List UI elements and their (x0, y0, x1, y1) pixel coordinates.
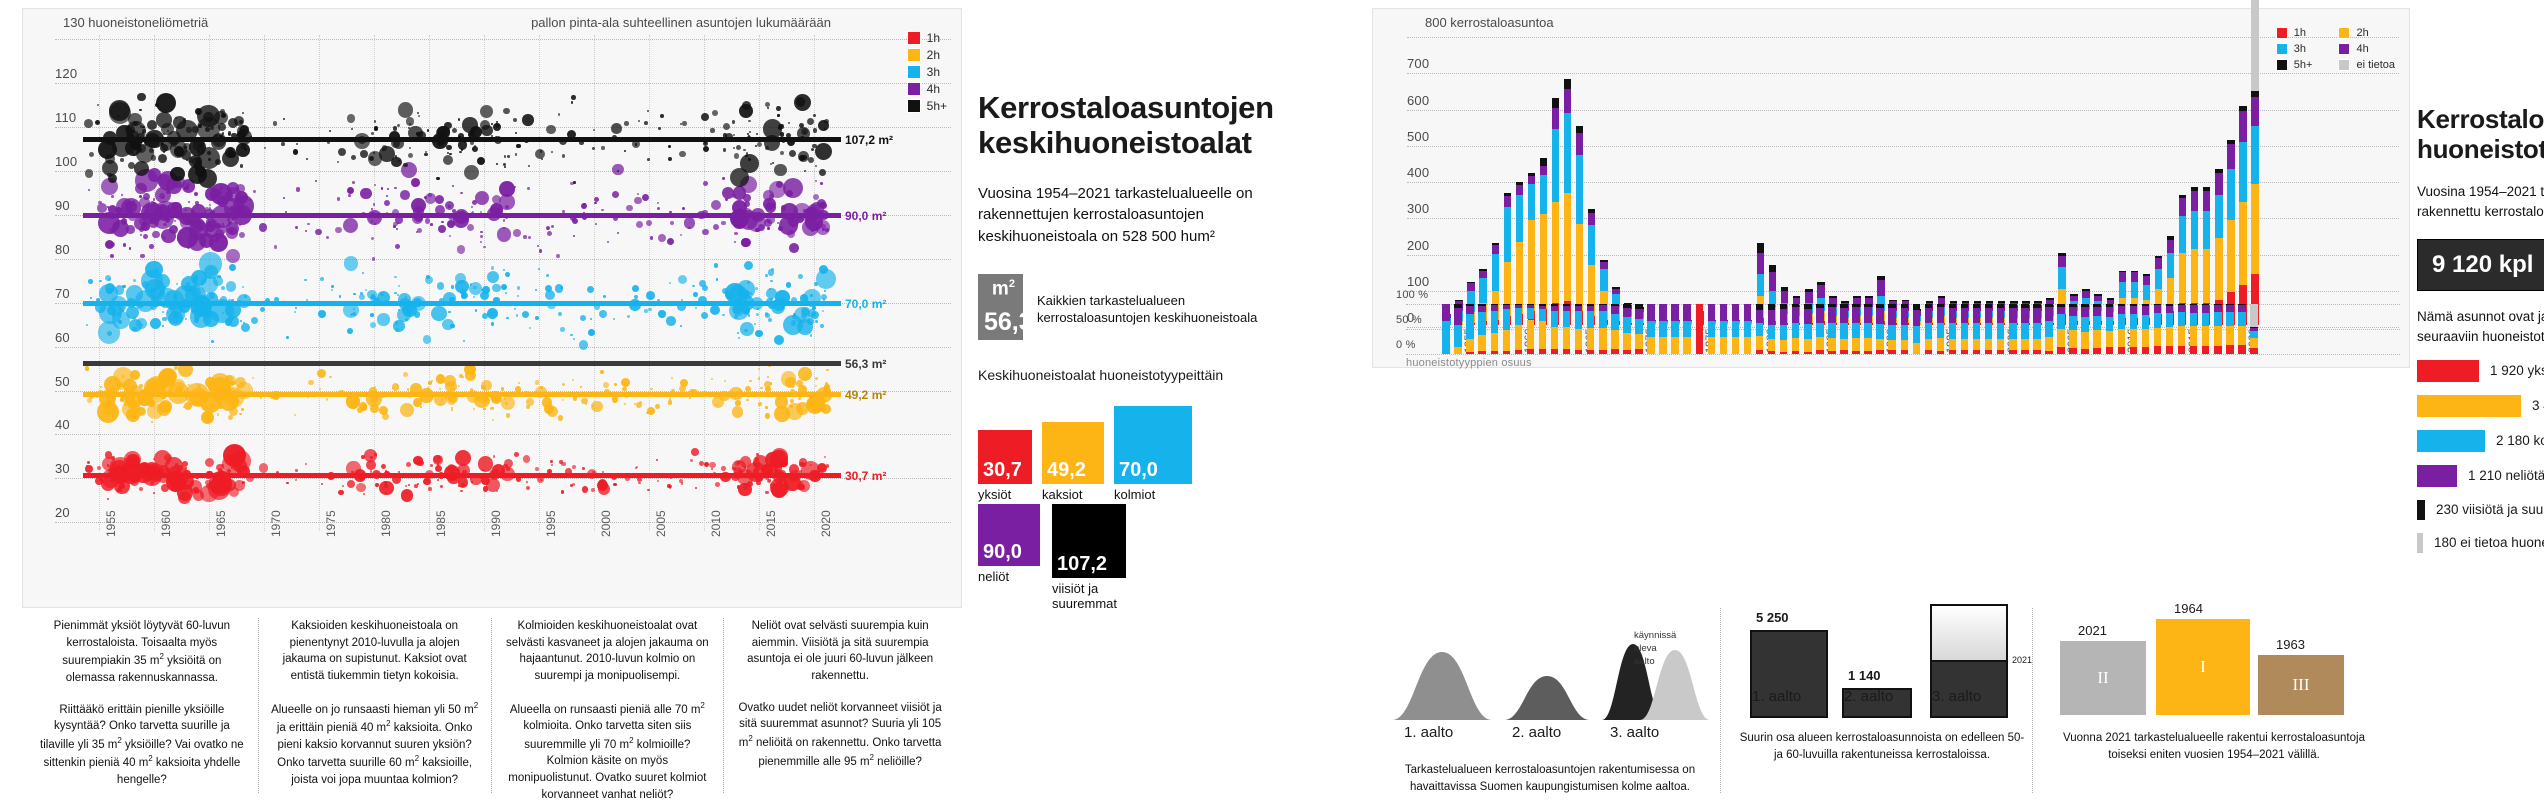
pct-segment-5h+[interactable] (1635, 304, 1642, 309)
data-bubble[interactable] (347, 114, 355, 122)
data-bubble[interactable] (758, 377, 760, 379)
pct-bar-2012[interactable] (2142, 304, 2149, 354)
data-bubble[interactable] (321, 483, 323, 485)
data-bubble[interactable] (624, 150, 626, 152)
pct-segment-5h+[interactable] (1768, 304, 1775, 310)
x-gridline[interactable] (649, 35, 650, 531)
data-bubble[interactable] (505, 402, 508, 405)
pct-segment-3h[interactable] (1527, 308, 1534, 320)
data-bubble[interactable] (614, 383, 617, 386)
pct-segment-5h+[interactable] (2166, 304, 2173, 306)
pct-segment-4h[interactable] (1816, 308, 1823, 323)
data-bubble[interactable] (550, 460, 553, 463)
data-bubble[interactable] (374, 126, 378, 130)
data-bubble[interactable] (504, 155, 506, 157)
pct-segment-1h[interactable] (1575, 350, 1582, 354)
data-bubble[interactable] (546, 125, 556, 135)
data-bubble[interactable] (810, 294, 813, 297)
data-bubble[interactable] (622, 387, 626, 391)
data-bubble[interactable] (523, 455, 530, 462)
data-bubble[interactable] (815, 320, 818, 323)
data-bubble[interactable] (451, 407, 453, 409)
data-bubble[interactable] (126, 225, 134, 233)
pct-segment-5h+[interactable] (2021, 304, 2028, 308)
data-bubble[interactable] (174, 366, 178, 370)
pct-segment-2h[interactable] (2069, 330, 2076, 348)
data-bubble[interactable] (492, 407, 494, 409)
pct-segment-3h[interactable] (1852, 323, 1859, 339)
pct-segment-3h[interactable] (1949, 323, 1956, 338)
bar-segment-2h[interactable] (2191, 249, 2198, 303)
data-bubble[interactable] (363, 493, 365, 495)
pct-bar-1978[interactable] (1732, 304, 1739, 354)
data-bubble[interactable] (820, 406, 826, 412)
bar-2013[interactable] (2155, 35, 2162, 325)
pct-bar-2006[interactable] (2069, 304, 2076, 354)
bar-2009[interactable] (2107, 35, 2114, 325)
bar-segment-2h[interactable] (2251, 184, 2258, 275)
bar-segment-3h[interactable] (2179, 216, 2186, 252)
data-bubble[interactable] (497, 227, 511, 241)
data-bubble[interactable] (526, 398, 534, 406)
bar-segment-3h[interactable] (2143, 285, 2150, 300)
data-bubble[interactable] (452, 128, 457, 133)
data-bubble[interactable] (765, 406, 768, 409)
pct-segment-4h[interactable] (2166, 306, 2173, 313)
pct-segment-4h[interactable] (1466, 306, 1473, 314)
bar-segment-4h[interactable] (1540, 166, 1547, 175)
pct-segment-2h[interactable] (1635, 334, 1642, 349)
data-bubble[interactable] (503, 108, 509, 114)
data-bubble[interactable] (612, 191, 619, 198)
data-bubble[interactable] (690, 459, 693, 462)
data-bubble[interactable] (343, 218, 359, 234)
pct-segment-2h[interactable] (2190, 326, 2197, 346)
data-bubble[interactable] (162, 325, 164, 327)
bar-1958[interactable] (1492, 35, 1499, 325)
x-tick-label[interactable]: 2020 (819, 510, 833, 537)
pct-bar-1967[interactable] (1599, 304, 1606, 354)
wave-bar-value-1[interactable]: 5 250 (1756, 610, 1789, 625)
data-bubble[interactable] (217, 413, 219, 415)
pct-segment-1h[interactable] (1466, 352, 1473, 354)
x-tick-label[interactable]: 1975 (324, 510, 338, 537)
legend-label-2h[interactable]: 2h (927, 48, 940, 62)
bar-segment-5h+[interactable] (2167, 236, 2174, 240)
breakdown-row-1[interactable]: 1 920 yksiötä (2417, 360, 2544, 382)
data-bubble[interactable] (384, 200, 390, 206)
pct-segment-1h[interactable] (2106, 347, 2113, 354)
data-bubble[interactable] (115, 285, 124, 294)
pct-bar-1955[interactable] (1454, 304, 1461, 354)
pct-segment-3h[interactable] (2106, 317, 2113, 330)
data-bubble[interactable] (790, 405, 793, 408)
bar-segment-2h[interactable] (1576, 224, 1583, 311)
data-bubble[interactable] (329, 130, 331, 132)
data-bubble[interactable] (515, 153, 518, 156)
data-bubble[interactable] (774, 335, 784, 345)
pct-segment-1h[interactable] (1635, 349, 1642, 354)
data-bubble[interactable] (205, 127, 210, 132)
pct-segment-4h[interactable] (1708, 304, 1715, 321)
bar-1981[interactable] (1769, 35, 1776, 325)
pct-segment-2h[interactable] (1792, 338, 1799, 351)
data-bubble[interactable] (667, 238, 674, 245)
pct-segment-2h[interactable] (1539, 321, 1546, 349)
pct-segment-2h[interactable] (2106, 331, 2113, 348)
pct-bar-2008[interactable] (2093, 304, 2100, 354)
data-bubble[interactable] (513, 118, 517, 122)
data-bubble[interactable] (721, 221, 726, 226)
data-bubble[interactable] (516, 144, 520, 148)
pct-segment-3h[interactable] (1961, 323, 1968, 338)
bar-2007[interactable] (2082, 35, 2089, 325)
note-paragraph-2[interactable]: Alueella on runsaasti pieniä alle 70 m2 … (504, 700, 712, 803)
data-bubble[interactable] (462, 376, 464, 378)
data-bubble[interactable] (760, 387, 763, 390)
pct-segment-4h[interactable] (2106, 307, 2113, 317)
bar-segment-4h[interactable] (1528, 176, 1535, 183)
pct-segment-3h[interactable] (2166, 313, 2173, 327)
data-bubble[interactable] (681, 482, 684, 485)
pct-segment-5h+[interactable] (2081, 304, 2088, 307)
pct-segment-2h[interactable] (1744, 337, 1751, 354)
data-bubble[interactable] (295, 226, 298, 229)
bar-segment-5h+[interactable] (2058, 253, 2065, 257)
bar-segment-3h[interactable] (2058, 267, 2065, 289)
data-bubble[interactable] (657, 202, 659, 204)
data-bubble[interactable] (149, 244, 154, 249)
pct-segment-5h+[interactable] (1901, 304, 1908, 308)
pct-segment-4h[interactable] (2130, 306, 2137, 314)
pct-segment-2h[interactable] (1503, 330, 1510, 351)
pct-segment-4h[interactable] (1901, 308, 1908, 326)
pct-bar-2014[interactable] (2166, 304, 2173, 354)
bar-2005[interactable] (2058, 35, 2065, 325)
data-bubble[interactable] (480, 235, 483, 238)
data-bubble[interactable] (382, 413, 389, 420)
breakdown-swatch-5[interactable] (2417, 500, 2425, 520)
pct-segment-4h[interactable] (2118, 306, 2125, 314)
data-bubble[interactable] (296, 143, 298, 145)
pct-segment-1h[interactable] (2045, 351, 2052, 354)
data-bubble[interactable] (501, 387, 504, 390)
data-bubble[interactable] (765, 274, 768, 277)
data-bubble[interactable] (749, 131, 751, 133)
data-bubble[interactable] (711, 468, 713, 470)
bar-segment-2h[interactable] (2215, 238, 2222, 300)
data-bubble[interactable] (373, 203, 375, 205)
data-bubble[interactable] (492, 284, 500, 292)
square-yksiöt[interactable]: 30,7 (978, 430, 1032, 484)
data-bubble[interactable] (137, 93, 145, 101)
mean-line[interactable] (83, 392, 841, 397)
pct-segment-3h[interactable] (1816, 323, 1823, 338)
data-bubble[interactable] (318, 310, 326, 318)
data-bubble[interactable] (703, 146, 709, 152)
pct-segment-1h[interactable] (1623, 350, 1630, 354)
pct-segment-3h[interactable] (2045, 321, 2052, 338)
gridline[interactable] (55, 347, 951, 348)
pct-segment-5h+[interactable] (2202, 304, 2209, 305)
data-bubble[interactable] (136, 407, 146, 417)
legend-item-1h[interactable]: 1h (907, 31, 947, 45)
bar-segment-5h+[interactable] (1516, 182, 1523, 186)
bar-1957[interactable] (1479, 35, 1486, 325)
pct-segment-2h[interactable] (1671, 337, 1678, 354)
data-bubble[interactable] (241, 323, 250, 332)
bar-segment-3h[interactable] (1600, 269, 1607, 291)
pct-bar-1981[interactable] (1768, 304, 1775, 354)
pct-segment-1h[interactable] (1756, 350, 1763, 354)
bar-segment-4h[interactable] (1467, 283, 1474, 290)
data-bubble[interactable] (240, 320, 242, 322)
data-bubble[interactable] (680, 234, 682, 236)
waves-bars-panel[interactable]: 5 2501 1402 73020211. aalto2. aalto3. aa… (1734, 608, 2034, 793)
pct-segment-1h[interactable] (2190, 346, 2197, 354)
bar-segment-5h+[interactable] (2143, 274, 2150, 276)
pct-segment-5h+[interactable] (1515, 304, 1522, 305)
pct-segment-5h+[interactable] (2069, 304, 2076, 307)
pct-segment-1h[interactable] (1876, 350, 1883, 354)
data-bubble[interactable] (451, 409, 453, 411)
data-bubble[interactable] (517, 286, 521, 290)
data-bubble[interactable] (763, 198, 776, 211)
data-bubble[interactable] (496, 490, 498, 492)
pct-segment-5h+[interactable] (2057, 304, 2064, 307)
data-bubble[interactable] (624, 121, 629, 126)
wave-bars-caption[interactable]: Suurin osa alueen kerrostaloasunnoista o… (1734, 730, 2030, 763)
data-bubble[interactable] (464, 165, 479, 180)
data-bubble[interactable] (367, 290, 376, 299)
data-bubble[interactable] (401, 489, 413, 501)
y-tick-label[interactable]: 30 (55, 461, 70, 476)
data-bubble[interactable] (237, 125, 249, 137)
data-bubble[interactable] (107, 498, 109, 500)
data-bubble[interactable] (812, 306, 816, 310)
pct-segment-3h[interactable] (2202, 313, 2209, 327)
pct-bar-1994[interactable] (1925, 304, 1932, 354)
data-bubble[interactable] (573, 338, 575, 340)
data-bubble[interactable] (438, 225, 446, 233)
pct-segment-2h[interactable] (1611, 330, 1618, 349)
wave-bar-label-2[interactable]: 2. aalto (1844, 688, 1893, 705)
pct-segment-1h[interactable] (1961, 350, 1968, 354)
data-bubble[interactable] (644, 121, 648, 125)
pct-segment-1h[interactable] (1527, 349, 1534, 354)
breakdown-row-5[interactable]: 230 viisiötä ja suurempia asuntoja (2417, 500, 2544, 520)
data-bubble[interactable] (460, 490, 462, 492)
pct-bar-2009[interactable] (2106, 304, 2113, 354)
data-bubble[interactable] (253, 190, 256, 193)
pct-segment-5h+[interactable] (1623, 304, 1630, 308)
bar-segment-5h+[interactable] (1540, 158, 1547, 165)
pct-segment-1h[interactable] (2069, 348, 2076, 354)
pct-segment-1h[interactable] (1949, 350, 1956, 354)
pct-segment-3h[interactable] (2081, 317, 2088, 332)
data-bubble[interactable] (666, 316, 675, 325)
data-bubble[interactable] (716, 404, 718, 406)
y-tick-label[interactable]: 20 (55, 505, 70, 520)
data-bubble[interactable] (522, 311, 529, 318)
bar-1990[interactable] (1877, 35, 1884, 325)
data-bubble[interactable] (538, 268, 540, 270)
y-tick-label[interactable]: 120 (55, 66, 77, 81)
data-bubble[interactable] (381, 187, 384, 190)
bar-segment-4h[interactable] (2131, 272, 2138, 281)
mean-line[interactable] (83, 213, 841, 218)
pct-segment-3h[interactable] (1864, 323, 1871, 339)
data-bubble[interactable] (503, 269, 505, 271)
pct-segment-5h+[interactable] (1852, 304, 1859, 307)
bar-2011[interactable] (2131, 35, 2138, 325)
pct-segment-2h[interactable] (1515, 325, 1522, 350)
data-bubble[interactable] (562, 383, 565, 386)
waves-panel[interactable]: käynnissä oleva aalto1. aalto2. aalto3. … (1382, 608, 1722, 793)
podium-year-II[interactable]: 2021 (2078, 623, 2107, 638)
data-bubble[interactable] (679, 151, 686, 158)
pct-segment-4h[interactable] (1611, 306, 1618, 313)
pct-segment-5h+[interactable] (1575, 304, 1582, 306)
pct-segment-4h[interactable] (2057, 307, 2064, 315)
pct-segment-5h+[interactable] (1804, 304, 1811, 309)
wave-bar-label-1[interactable]: 1. aalto (1752, 688, 1801, 705)
pct-segment-5h+[interactable] (1840, 304, 1847, 308)
pct-segment-ei tietoa[interactable] (2250, 304, 2257, 327)
data-bubble[interactable] (573, 181, 576, 184)
mean-line-label[interactable]: 90,0 m² (845, 209, 886, 223)
breakdown-swatch-4[interactable] (2417, 465, 2457, 487)
data-bubble[interactable] (295, 469, 298, 472)
data-bubble[interactable] (712, 110, 718, 116)
data-bubble[interactable] (273, 121, 278, 126)
x-gridline[interactable] (264, 35, 265, 531)
pct-bar-1985[interactable] (1816, 304, 1823, 354)
breakdown-label-3[interactable]: 2 180 kolmiota (2496, 433, 2544, 448)
x-tick-label[interactable]: 1965 (214, 510, 228, 537)
wave-label-1[interactable]: 1. aalto (1404, 724, 1453, 741)
x-gridline[interactable] (99, 35, 100, 531)
bar-1960[interactable] (1516, 35, 1523, 325)
pct-segment-5h+[interactable] (1949, 304, 1956, 308)
data-bubble[interactable] (715, 482, 720, 487)
pct-bar-1998[interactable] (1973, 304, 1980, 354)
data-bubble[interactable] (305, 463, 307, 465)
bar-segment-3h[interactable] (2215, 195, 2222, 239)
data-bubble[interactable] (765, 491, 769, 495)
data-bubble[interactable] (738, 337, 740, 339)
pct-segment-2h[interactable] (1478, 335, 1485, 351)
data-bubble[interactable] (480, 231, 482, 233)
bar-segment-4h[interactable] (1588, 213, 1595, 226)
bar-1963[interactable] (1552, 35, 1559, 325)
data-bubble[interactable] (522, 114, 533, 125)
pct-segment-3h[interactable] (1720, 321, 1727, 338)
data-bubble[interactable] (570, 334, 572, 336)
pct-segment-2h[interactable] (1587, 328, 1594, 350)
data-bubble[interactable] (755, 457, 759, 461)
data-bubble[interactable] (123, 243, 127, 247)
data-bubble[interactable] (732, 120, 735, 123)
bar-segment-5h+[interactable] (1588, 209, 1595, 213)
data-bubble[interactable] (517, 295, 519, 297)
wave-label-3[interactable]: 3. aalto (1610, 724, 1659, 741)
y-tick-label[interactable]: 100 (55, 154, 77, 169)
pct-segment-2h[interactable] (2045, 337, 2052, 350)
pct-segment-3h[interactable] (1551, 311, 1558, 327)
data-bubble[interactable] (85, 366, 89, 370)
data-bubble[interactable] (396, 228, 398, 230)
data-bubble[interactable] (822, 310, 824, 312)
legend-item-4h[interactable]: 4h (907, 82, 947, 96)
pct-segment-2h[interactable] (1756, 336, 1763, 349)
bar-segment-4h[interactable] (2239, 111, 2246, 142)
pct-segment-3h[interactable] (1623, 317, 1630, 334)
pct-segment-2h[interactable] (1599, 328, 1606, 350)
data-bubble[interactable] (799, 155, 804, 160)
square-value-0[interactable]: 30,7 (983, 459, 1022, 482)
pct-bar-2021[interactable] (2250, 304, 2257, 354)
pct-segment-1h[interactable] (1599, 350, 1606, 354)
pct-bar-1959[interactable] (1503, 304, 1510, 354)
bar-1970[interactable] (1636, 35, 1643, 325)
data-bubble[interactable] (561, 490, 564, 493)
pct-segment-1h[interactable] (1816, 350, 1823, 354)
pct-bar-1972[interactable] (1659, 304, 1666, 354)
bar-2014[interactable] (2167, 35, 2174, 325)
pct-segment-4h[interactable] (1840, 308, 1847, 323)
data-bubble[interactable] (417, 462, 420, 465)
data-bubble[interactable] (789, 243, 799, 253)
data-bubble[interactable] (682, 121, 686, 125)
pct-segment-5h+[interactable] (2238, 304, 2245, 305)
pct-segment-4h[interactable] (1563, 306, 1570, 311)
bar-1986[interactable] (1829, 35, 1836, 325)
pct-segment-4h[interactable] (2021, 308, 2028, 323)
data-bubble[interactable] (754, 323, 756, 325)
data-bubble[interactable] (594, 197, 599, 202)
pct-segment-5h+[interactable] (1587, 304, 1594, 306)
mean-line-label[interactable]: 70,0 m² (845, 297, 886, 311)
pct-bar-1987[interactable] (1840, 304, 1847, 354)
pct-segment-1h[interactable] (1925, 350, 1932, 354)
data-bubble[interactable] (483, 246, 485, 248)
data-bubble[interactable] (503, 464, 508, 469)
data-bubble[interactable] (344, 256, 359, 271)
pct-segment-5h+[interactable] (1997, 304, 2004, 308)
data-bubble[interactable] (185, 467, 187, 469)
bar-segment-4h[interactable] (1877, 280, 1884, 296)
legend-label-3h[interactable]: 3h (2294, 43, 2306, 55)
data-bubble[interactable] (581, 203, 587, 209)
legend-item-3h[interactable]: 3h (907, 65, 947, 79)
y-tick-label[interactable]: 700 (1407, 56, 1429, 71)
x-tick-label[interactable]: 1995 (544, 510, 558, 537)
pct-bar-2016[interactable] (2190, 304, 2197, 354)
pct-segment-2h[interactable] (2250, 338, 2257, 349)
pct-segment-4h[interactable] (1852, 307, 1859, 323)
data-bubble[interactable] (406, 462, 411, 467)
pct-segment-5h+[interactable] (1985, 304, 1992, 308)
bar-segment-4h[interactable] (2203, 191, 2210, 211)
pct-segment-4h[interactable] (1864, 307, 1871, 323)
pct-axis-note[interactable]: huoneistotyyppien osuus (1406, 357, 1532, 369)
data-bubble[interactable] (624, 403, 626, 405)
data-bubble[interactable] (173, 314, 179, 320)
data-bubble[interactable] (420, 406, 422, 408)
data-bubble[interactable] (461, 192, 464, 195)
pct-segment-4h[interactable] (2178, 305, 2185, 312)
